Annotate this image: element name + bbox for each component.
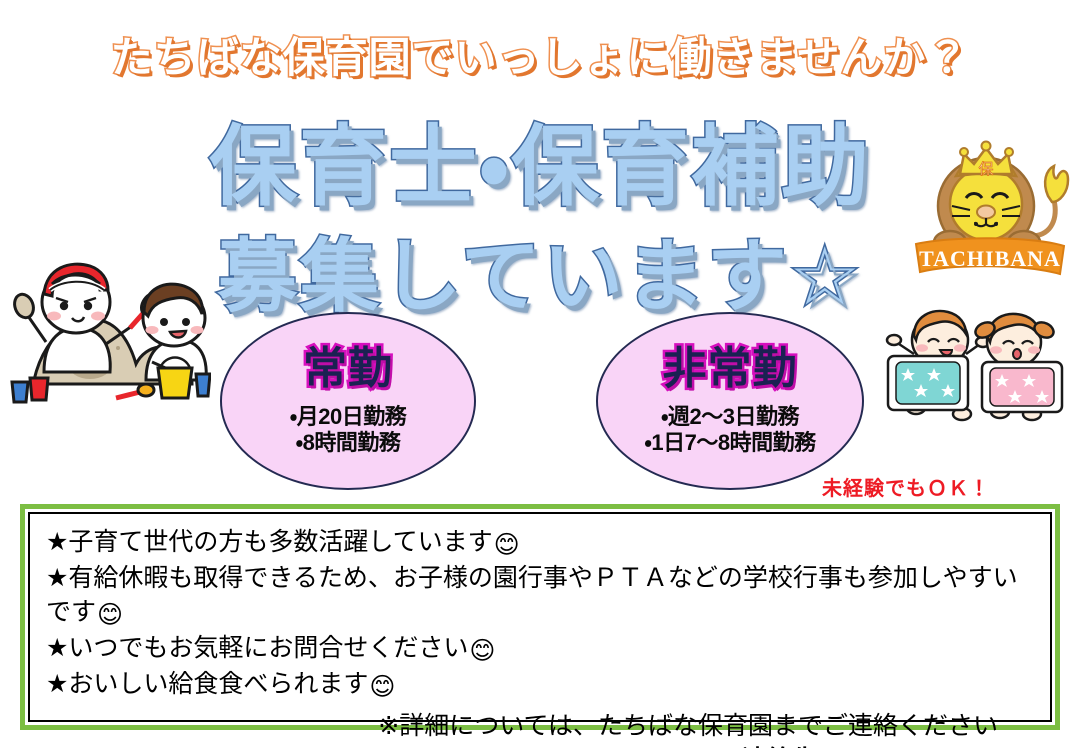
contact-phone: 連絡先：099-251-4041 xyxy=(46,744,1034,748)
benefit-bullet: ★おいしい給食食べられます😊 xyxy=(46,668,1034,704)
fulltime-details: ・月20日勤務 ・8時間勤務 xyxy=(290,404,406,456)
poster-tagline: たちばな保育園でいっしょに働きませんか？ xyxy=(0,24,1080,85)
no-experience-note: 未経験でもＯＫ！ xyxy=(822,472,990,501)
smiley-icon: 😊 xyxy=(97,599,123,632)
benefit-bullet: ★子育て世代の方も多数活躍しています😊 xyxy=(46,526,1034,562)
benefit-bullet-text: ★子育て世代の方も多数活躍しています xyxy=(46,528,493,556)
employment-type-fulltime: 常勤 ・月20日勤務 ・8時間勤務 xyxy=(220,312,476,490)
employment-type-parttime: 非常勤 ・週2～3日勤務 ・1日7～8時間勤務 xyxy=(596,312,864,490)
parttime-detail-line: ・1日7～8時間勤務 xyxy=(644,430,815,456)
benefits-info-box: ★子育て世代の方も多数活躍しています😊 ★有給休暇も取得できるため、お子様の園行… xyxy=(20,504,1060,730)
tachibana-lion-logo: 保 TACHIBANA xyxy=(912,132,1072,289)
children-napping-illustration xyxy=(884,302,1074,459)
benefit-bullet: ★有給休暇も取得できるため、お子様の園行事やＰＴＡなどの学校行事も参加しやすいで… xyxy=(46,562,1034,632)
crown-kanji-text: 保 xyxy=(978,161,993,178)
children-sandbox-illustration xyxy=(6,232,211,417)
parttime-title: 非常勤 xyxy=(663,346,798,392)
fulltime-title: 常勤 xyxy=(303,346,393,392)
smiley-icon: 😊 xyxy=(469,635,495,668)
logo-banner-text: TACHIBANA xyxy=(919,246,1061,271)
benefits-info-inner: ★子育て世代の方も多数活躍しています😊 ★有給休暇も取得できるため、お子様の園行… xyxy=(28,512,1052,722)
parttime-details: ・週2～3日勤務 ・1日7～8時間勤務 xyxy=(644,404,815,456)
smiley-icon: 😊 xyxy=(494,529,520,562)
benefit-bullet-text: ★有給休暇も取得できるため、お子様の園行事やＰＴＡなどの学校行事も参加しやすいで… xyxy=(46,564,1018,625)
smiley-icon: 😊 xyxy=(369,671,395,704)
fulltime-detail-line: ・8時間勤務 xyxy=(290,430,406,456)
fulltime-detail-line: ・月20日勤務 xyxy=(290,404,406,430)
benefit-bullet: ★いつでもお気軽にお問合せください😊 xyxy=(46,632,1034,668)
benefit-bullet-text: ★おいしい給食食べられます xyxy=(46,670,368,698)
benefit-bullet-text: ★いつでもお気軽にお問合せください xyxy=(46,634,468,662)
recruitment-poster: たちばな保育園でいっしょに働きませんか？ 保育士・保育補助 募集しています☆ xyxy=(0,0,1080,748)
contact-note: ※詳細については、たちばな保育園までご連絡ください xyxy=(46,710,1034,744)
parttime-detail-line: ・週2～3日勤務 xyxy=(644,404,815,430)
